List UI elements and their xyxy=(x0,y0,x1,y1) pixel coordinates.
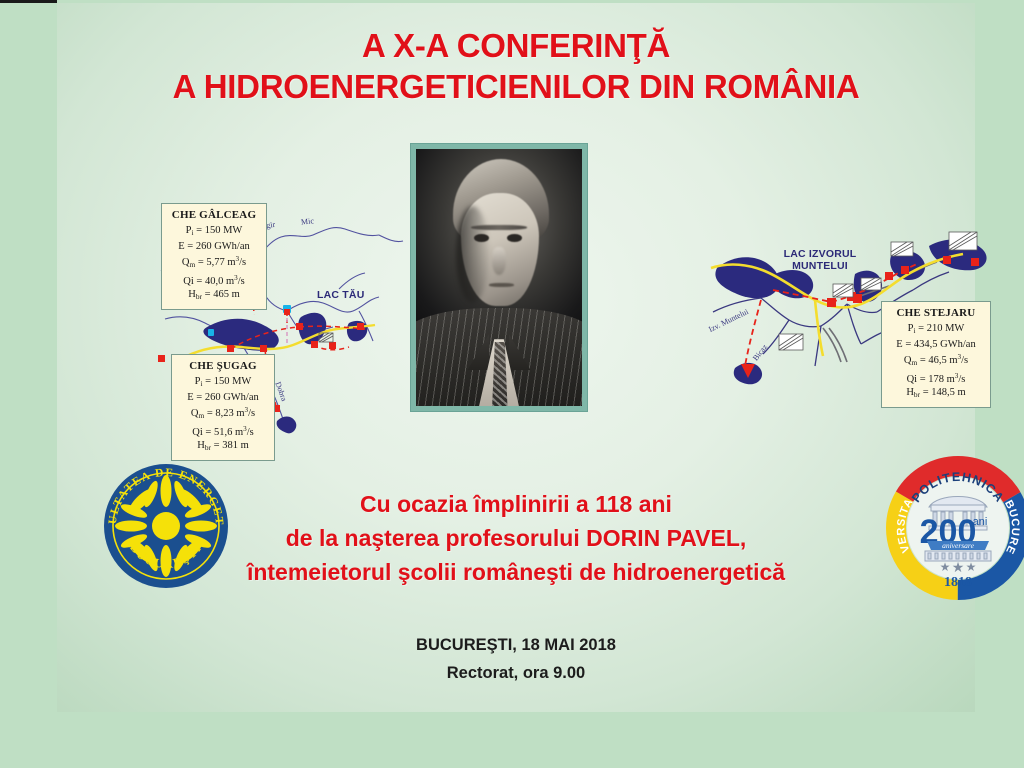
info-row: Hbr = 465 m xyxy=(169,288,259,303)
stars: ★ ★ ★ xyxy=(940,559,977,575)
info-row: Qm = 5,77 m3/s xyxy=(169,253,259,271)
info-row: Qm = 8,23 m3/s xyxy=(179,404,267,422)
poster-slide: A X-A CONFERINŢĂ A HIDROENERGETICIENILOR… xyxy=(57,3,975,712)
info-row: Qi = 51,6 m3/s xyxy=(179,423,267,439)
info-row: Qi = 40,0 m3/s xyxy=(169,272,259,288)
svg-text:★: ★ xyxy=(966,560,977,574)
logo-facultatea-energetica: FACULTATEA DE ENERGETICA BUCUREŞTI xyxy=(99,459,233,593)
info-row: E = 434,5 GWh/an xyxy=(889,338,983,351)
info-row: E = 260 GWh/an xyxy=(179,391,267,404)
lake-label-line-1: LAC xyxy=(784,248,806,260)
ribbon-text: aniversare xyxy=(942,541,974,550)
founding-year: 1818 xyxy=(944,575,972,590)
info-box-che-stejaru: CHE STEJARU Pi = 210 MW E = 434,5 GWh/an… xyxy=(881,301,991,408)
info-box-title: CHE ŞUGAG xyxy=(179,360,267,373)
event-details: BUCUREŞTI, 18 MAI 2018 Rectorat, ora 9.0… xyxy=(57,631,975,687)
event-location-date: BUCUREŞTI, 18 MAI 2018 xyxy=(57,631,975,659)
top-edge-rule xyxy=(0,0,57,3)
info-box-che-sugag: CHE ŞUGAG Pi = 150 MW E = 260 GWh/an Qm … xyxy=(171,354,275,461)
info-row: Pi = 210 MW xyxy=(889,322,983,337)
svg-text:★: ★ xyxy=(940,560,951,574)
info-row: Hbr = 381 m xyxy=(179,439,267,454)
portrait-frame xyxy=(411,144,587,411)
info-box-title: CHE GÂLCEAG xyxy=(169,209,259,222)
lake-label-tau: LAC TĂU xyxy=(317,289,364,301)
info-row: Hbr = 148,5 m xyxy=(889,386,983,401)
info-row: Qm = 46,5 m3/s xyxy=(889,351,983,369)
info-box-title: CHE STEJARU xyxy=(889,307,983,320)
title-line-1: A X-A CONFERINŢĂ xyxy=(57,25,975,66)
portrait-nose xyxy=(492,247,505,275)
map-diagram-right: LAC IZVORUL MUNTELUI Izv. Muntelui Bicaz… xyxy=(705,228,997,388)
anniversary-unit: ani xyxy=(973,516,988,528)
portrait-photo xyxy=(416,149,582,406)
map-diagram-left: Cugir Mic Cugirul Mare Dobra LAC OAŞA LA… xyxy=(153,199,421,445)
info-row: Pi = 150 MW xyxy=(179,375,267,390)
title-line-2: A HIDROENERGETICIENILOR DIN ROMÂNIA xyxy=(57,66,975,107)
page-title: A X-A CONFERINŢĂ A HIDROENERGETICIENILOR… xyxy=(57,25,975,107)
info-box-che-galceag: CHE GÂLCEAG Pi = 150 MW E = 260 GWh/an Q… xyxy=(161,203,267,310)
info-row: Pi = 150 MW xyxy=(169,224,259,239)
portrait-mouth xyxy=(489,283,514,287)
lake-label-izvorul-muntelui: LAC IZVORUL MUNTELUI xyxy=(765,248,875,272)
logo-politehnica: 200 ani aniversare ★ ★ ★ 1818 POLITEHNIC… xyxy=(885,455,1024,601)
info-row: E = 260 GWh/an xyxy=(169,240,259,253)
svg-text:★: ★ xyxy=(952,559,965,575)
portrait-face-shadow xyxy=(456,206,489,304)
event-venue-time: Rectorat, ora 9.00 xyxy=(57,659,975,687)
portrait-eye-left xyxy=(474,234,489,242)
river-label-mic: Mic xyxy=(301,216,315,226)
info-row: Qi = 178 m3/s xyxy=(889,370,983,386)
